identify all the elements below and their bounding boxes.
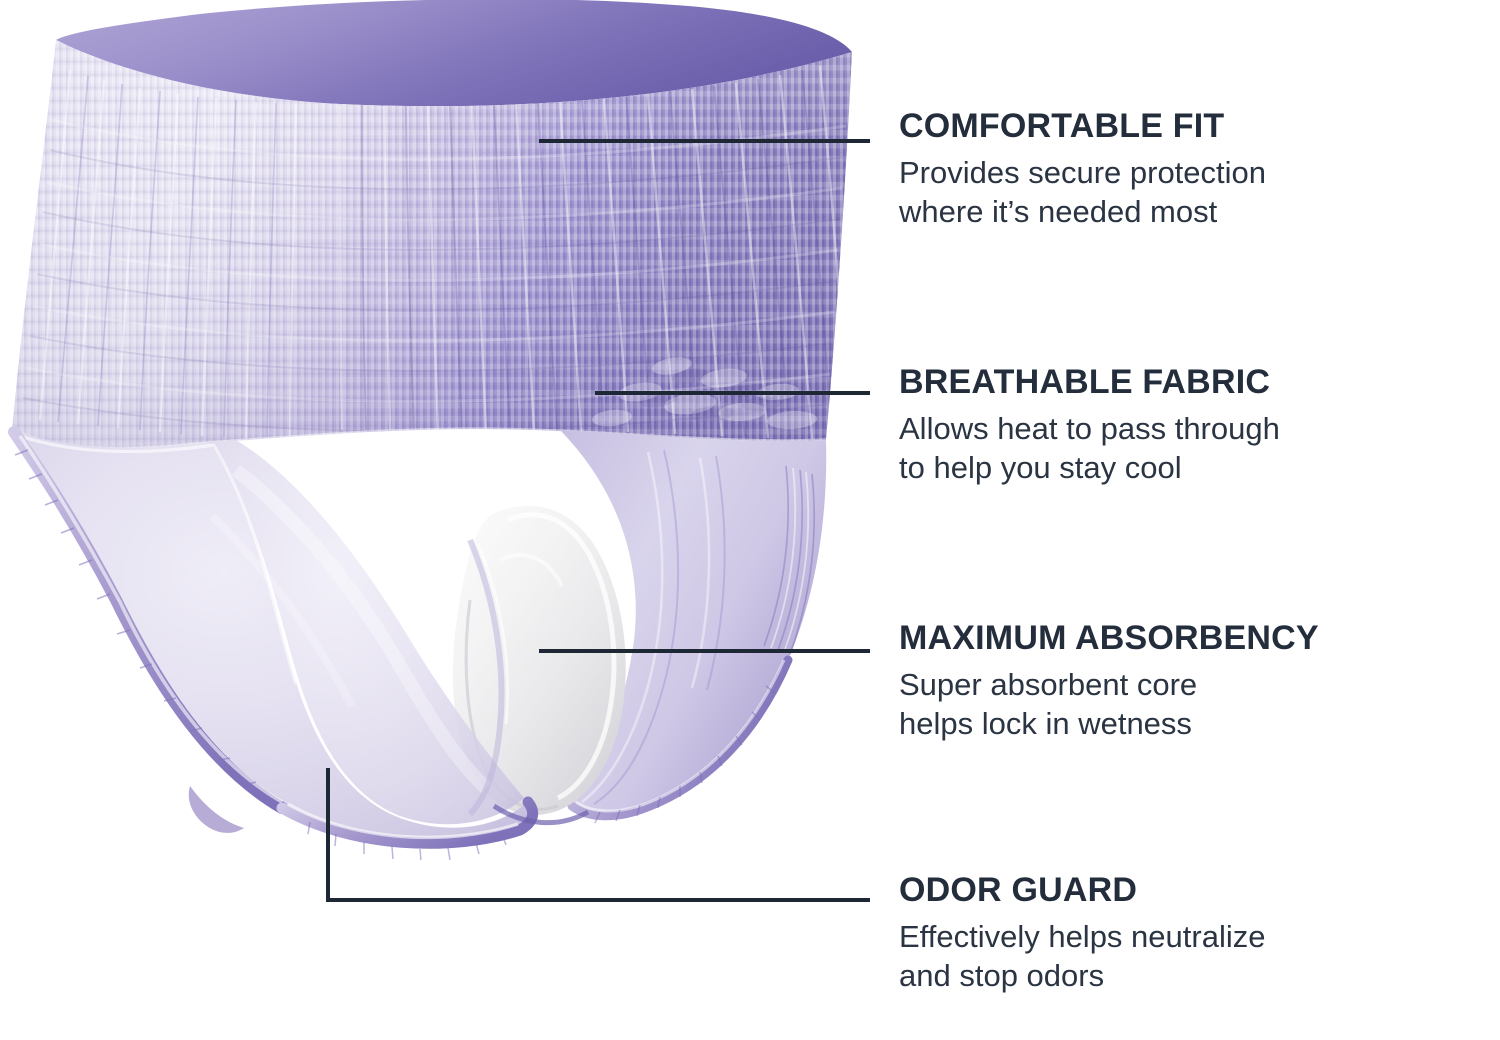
callout-body: Allows heat to pass through to help you … <box>899 409 1499 487</box>
callout-heading: ODOR GUARD <box>899 872 1499 909</box>
callout-body-line: helps lock in wetness <box>899 704 1499 743</box>
callout-body-line: Effectively helps neutralize <box>899 917 1499 956</box>
callout-maximum-absorbency: MAXIMUM ABSORBENCY Super absorbent core … <box>899 620 1499 743</box>
callout-breathable-fabric: BREATHABLE FABRIC Allows heat to pass th… <box>899 364 1499 487</box>
callout-body-line: to help you stay cool <box>899 448 1499 487</box>
product-image <box>0 0 880 860</box>
callout-heading: MAXIMUM ABSORBENCY <box>899 620 1499 657</box>
callout-body-line: and stop odors <box>899 956 1499 995</box>
callout-body: Super absorbent core helps lock in wetne… <box>899 665 1499 743</box>
callout-heading: COMFORTABLE FIT <box>899 108 1499 145</box>
callout-body-line: Allows heat to pass through <box>899 409 1499 448</box>
callout-body-line: Provides secure protection <box>899 153 1499 192</box>
callout-body-line: Super absorbent core <box>899 665 1499 704</box>
callout-body: Effectively helps neutralize and stop od… <box>899 917 1499 995</box>
callout-odor-guard: ODOR GUARD Effectively helps neutralize … <box>899 872 1499 995</box>
infographic-canvas: COMFORTABLE FIT Provides secure protecti… <box>0 0 1500 1040</box>
callout-comfortable-fit: COMFORTABLE FIT Provides secure protecti… <box>899 108 1499 231</box>
left-bottom-tab <box>189 786 244 833</box>
callout-heading: BREATHABLE FABRIC <box>899 364 1499 401</box>
callout-body-line: where it’s needed most <box>899 192 1499 231</box>
callout-body: Provides secure protection where it’s ne… <box>899 153 1499 231</box>
